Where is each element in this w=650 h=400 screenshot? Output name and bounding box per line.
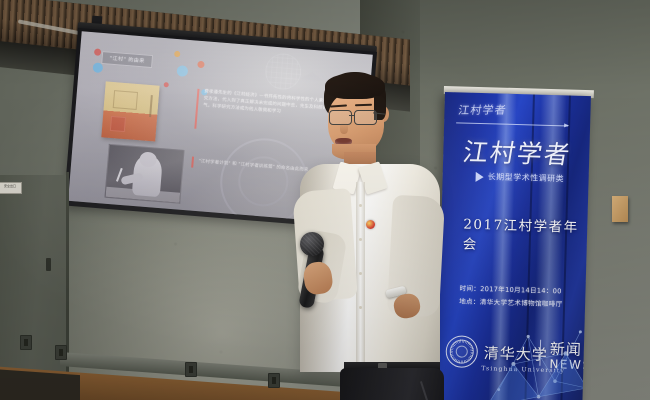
shirt-placket bbox=[356, 182, 365, 372]
shirt-button bbox=[359, 204, 362, 207]
shirt-button bbox=[359, 238, 362, 241]
banner-main-calligraphy: 江村学者 bbox=[460, 133, 574, 172]
lecture-photo-scene: "江村" 的由来 费孝通先生的《江村经济》一书开拓性的将科学性的个人素养及社会学… bbox=[0, 0, 650, 400]
banner-calligraphy-top: 江村学者 bbox=[457, 101, 552, 120]
exit-sign: 安全出口 bbox=[0, 182, 22, 194]
eyeglasses-bridge bbox=[349, 115, 355, 116]
lapel-badge-pin bbox=[366, 220, 375, 229]
wall-wood-block bbox=[612, 196, 628, 222]
microphone-head-icon[interactable] bbox=[300, 232, 324, 256]
exit-sign-label: 安全出口 bbox=[0, 183, 21, 188]
event-banner: 江村学者 江村学者 长期型学术性调研类 2017江村学者年会 时间：2017年1… bbox=[436, 92, 591, 400]
wall-outlet[interactable] bbox=[268, 373, 280, 388]
banner-headline: 2017江村学者年会 bbox=[463, 213, 588, 256]
trousers bbox=[340, 368, 444, 400]
nose bbox=[340, 122, 348, 134]
door[interactable] bbox=[0, 175, 68, 400]
speaker bbox=[282, 72, 452, 400]
wall-outlet[interactable] bbox=[185, 362, 197, 377]
wall-outlet[interactable] bbox=[20, 335, 32, 350]
floor-shadow bbox=[0, 369, 80, 400]
wall-outlet[interactable] bbox=[55, 345, 67, 360]
play-triangle-icon bbox=[476, 171, 484, 181]
door-handle[interactable] bbox=[46, 258, 51, 271]
network-graphic bbox=[478, 289, 591, 400]
shirt-button bbox=[359, 306, 362, 309]
shirt-button bbox=[359, 272, 362, 275]
banner-subtitle-row: 长期型学术性调研类 bbox=[476, 171, 565, 184]
banner-subtitle: 长期型学术性调研类 bbox=[487, 171, 564, 184]
